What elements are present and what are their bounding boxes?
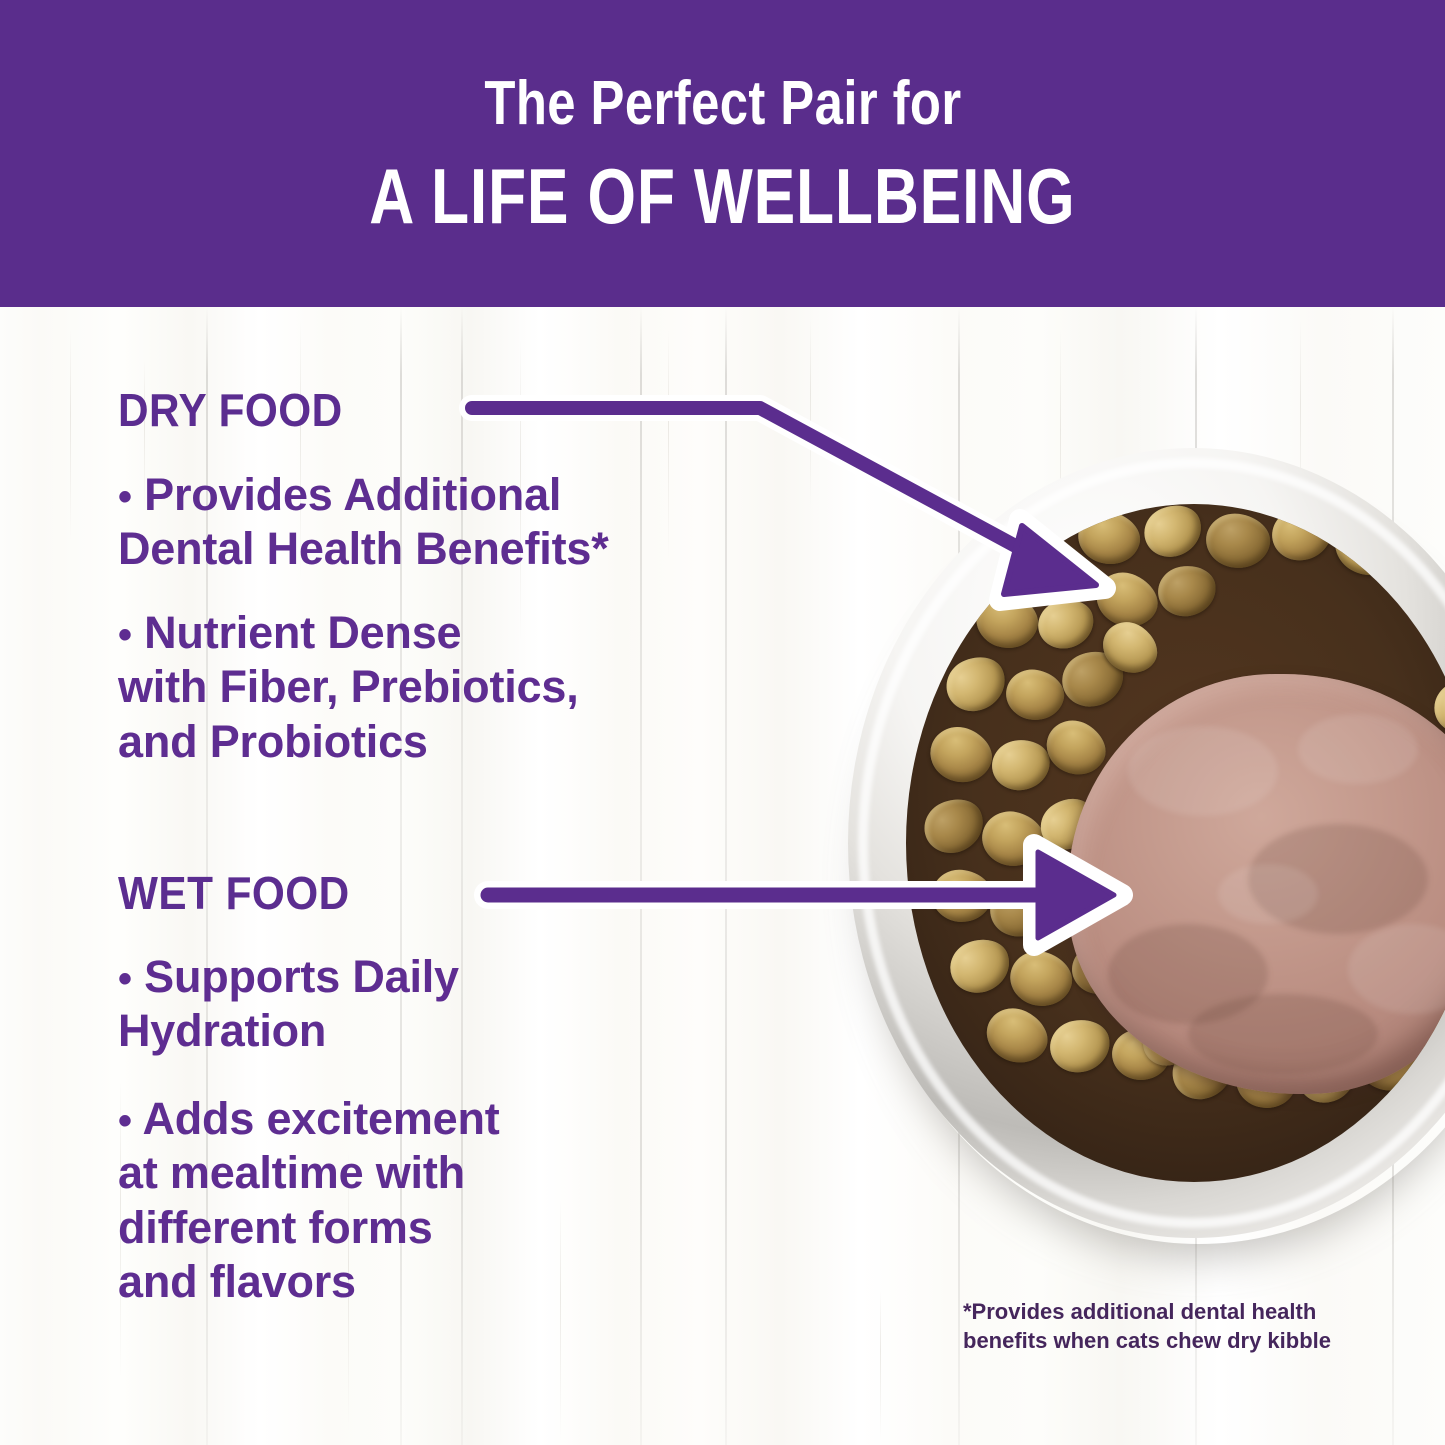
bullet-dot-icon: • — [118, 1099, 132, 1143]
bullet-wet-1-text: Supports Daily Hydration — [118, 951, 459, 1056]
bullet-dot-icon: • — [118, 475, 132, 519]
bullet-wet-1: • Supports Daily Hydration — [118, 950, 778, 1059]
kibble-piece — [923, 719, 1000, 791]
kibble-piece — [977, 806, 1049, 872]
cat-food-bowl-photo — [848, 448, 1445, 1248]
section-title-dry-food: DRY FOOD — [118, 383, 343, 437]
kibble-piece — [1203, 510, 1274, 572]
wood-grain — [70, 330, 71, 540]
bullet-dot-icon: • — [118, 613, 132, 657]
kibble-piece — [1002, 665, 1068, 724]
bullet-dot-icon: • — [118, 957, 132, 1001]
bowl-rim — [848, 448, 1445, 1238]
kibble-piece — [1004, 945, 1078, 1014]
kibble-piece — [1045, 1014, 1115, 1077]
bullet-dry-2: • Nutrient Dense with Fiber, Prebiotics,… — [118, 606, 778, 769]
kibble-piece — [916, 790, 992, 862]
wood-grain — [810, 318, 811, 508]
bullet-wet-2: • Adds excitement at mealtime with diffe… — [118, 1092, 778, 1310]
kibble-piece — [943, 931, 1017, 1000]
kibble-piece — [984, 875, 1057, 942]
kibble-piece — [1032, 593, 1099, 655]
section-title-wet-food: WET FOOD — [118, 866, 350, 920]
kibble-piece — [1154, 561, 1220, 620]
kibble-piece — [989, 736, 1053, 794]
bullet-dry-1: • Provides Additional Dental Health Bene… — [118, 468, 778, 577]
kibble-piece — [1137, 504, 1210, 565]
header-title-line2: A LIFE OF WELLBEING — [369, 157, 1075, 235]
header-band: The Perfect Pair for A LIFE OF WELLBEING — [0, 0, 1445, 307]
promo-infographic: The Perfect Pair for A LIFE OF WELLBEING — [0, 0, 1445, 1445]
bullet-wet-2-text: Adds excitement at mealtime with differe… — [118, 1093, 500, 1307]
wet-food-pate — [1068, 674, 1445, 1094]
pate-highlight — [1218, 864, 1318, 924]
pate-highlight — [1298, 714, 1418, 784]
header-title-line1: The Perfect Pair for — [484, 73, 961, 135]
pate-highlight — [1348, 924, 1445, 1014]
footnote-dental-benefits: *Provides additional dental health benef… — [963, 1298, 1383, 1355]
bullet-dry-2-text: Nutrient Dense with Fiber, Prebiotics, a… — [118, 607, 579, 767]
kibble-piece — [978, 999, 1057, 1073]
pate-highlight — [1128, 726, 1278, 816]
bullet-dry-1-text: Provides Additional Dental Health Benefi… — [118, 469, 609, 574]
wood-grain — [880, 1290, 881, 1440]
kibble-piece — [929, 867, 994, 925]
pate-shade — [1188, 994, 1378, 1074]
